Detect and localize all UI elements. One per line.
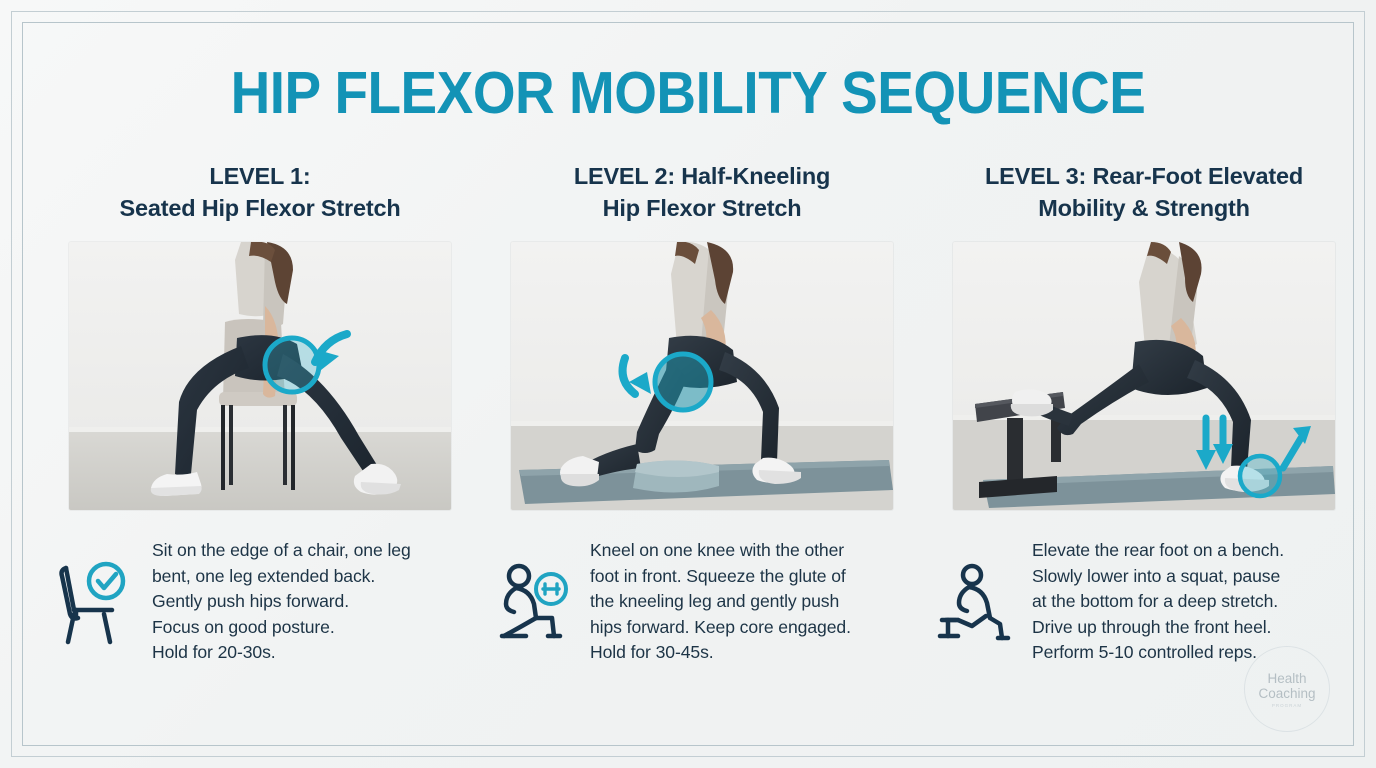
- kneeling-lunge-dumbbell-icon: [492, 556, 576, 648]
- level-2-description-row: Kneel on one knee with the other foot in…: [492, 538, 912, 666]
- level-2-heading-line2: Hip Flexor Stretch: [492, 192, 912, 224]
- level-3-heading-line1: LEVEL 3: Rear-Foot Elevated: [934, 160, 1354, 192]
- watermark-line-1: Health: [1267, 671, 1306, 686]
- split-squat-bench-icon: [934, 558, 1018, 650]
- infographic-poster: HIP FLEXOR MOBILITY SEQUENCE LEVEL 1: Se…: [0, 0, 1376, 768]
- level-2-column: LEVEL 2: Half-Kneeling Hip Flexor Stretc…: [492, 160, 912, 666]
- level-1-photo: [69, 242, 451, 510]
- level-1-description: Sit on the edge of a chair, one leg bent…: [152, 538, 411, 666]
- level-3-column: LEVEL 3: Rear-Foot Elevated Mobility & S…: [934, 160, 1354, 666]
- level-2-heading-line1: LEVEL 2: Half-Kneeling: [492, 160, 912, 192]
- level-1-heading: LEVEL 1: Seated Hip Flexor Stretch: [50, 160, 470, 224]
- level-1-column: LEVEL 1: Seated Hip Flexor Stretch: [50, 160, 470, 666]
- level-1-heading-line1: LEVEL 1:: [50, 160, 470, 192]
- watermark-line-2: Coaching: [1258, 686, 1315, 701]
- level-3-heading: LEVEL 3: Rear-Foot Elevated Mobility & S…: [934, 160, 1354, 224]
- level-2-photo: [511, 242, 893, 510]
- watermark-line-3: PROGRAM: [1272, 703, 1302, 708]
- levels-container: LEVEL 1: Seated Hip Flexor Stretch: [50, 160, 1326, 666]
- level-1-description-row: Sit on the edge of a chair, one leg bent…: [50, 538, 470, 666]
- chair-check-icon: [50, 554, 134, 646]
- level-3-heading-line2: Mobility & Strength: [934, 192, 1354, 224]
- level-1-heading-line2: Seated Hip Flexor Stretch: [50, 192, 470, 224]
- watermark-logo: Health Coaching PROGRAM: [1244, 646, 1330, 732]
- level-2-description: Kneel on one knee with the other foot in…: [590, 538, 851, 666]
- level-3-description: Elevate the rear foot on a bench. Slowly…: [1032, 538, 1284, 666]
- level-2-heading: LEVEL 2: Half-Kneeling Hip Flexor Stretc…: [492, 160, 912, 224]
- level-3-photo: [953, 242, 1335, 510]
- page-title: HIP FLEXOR MOBILITY SEQUENCE: [48, 62, 1328, 124]
